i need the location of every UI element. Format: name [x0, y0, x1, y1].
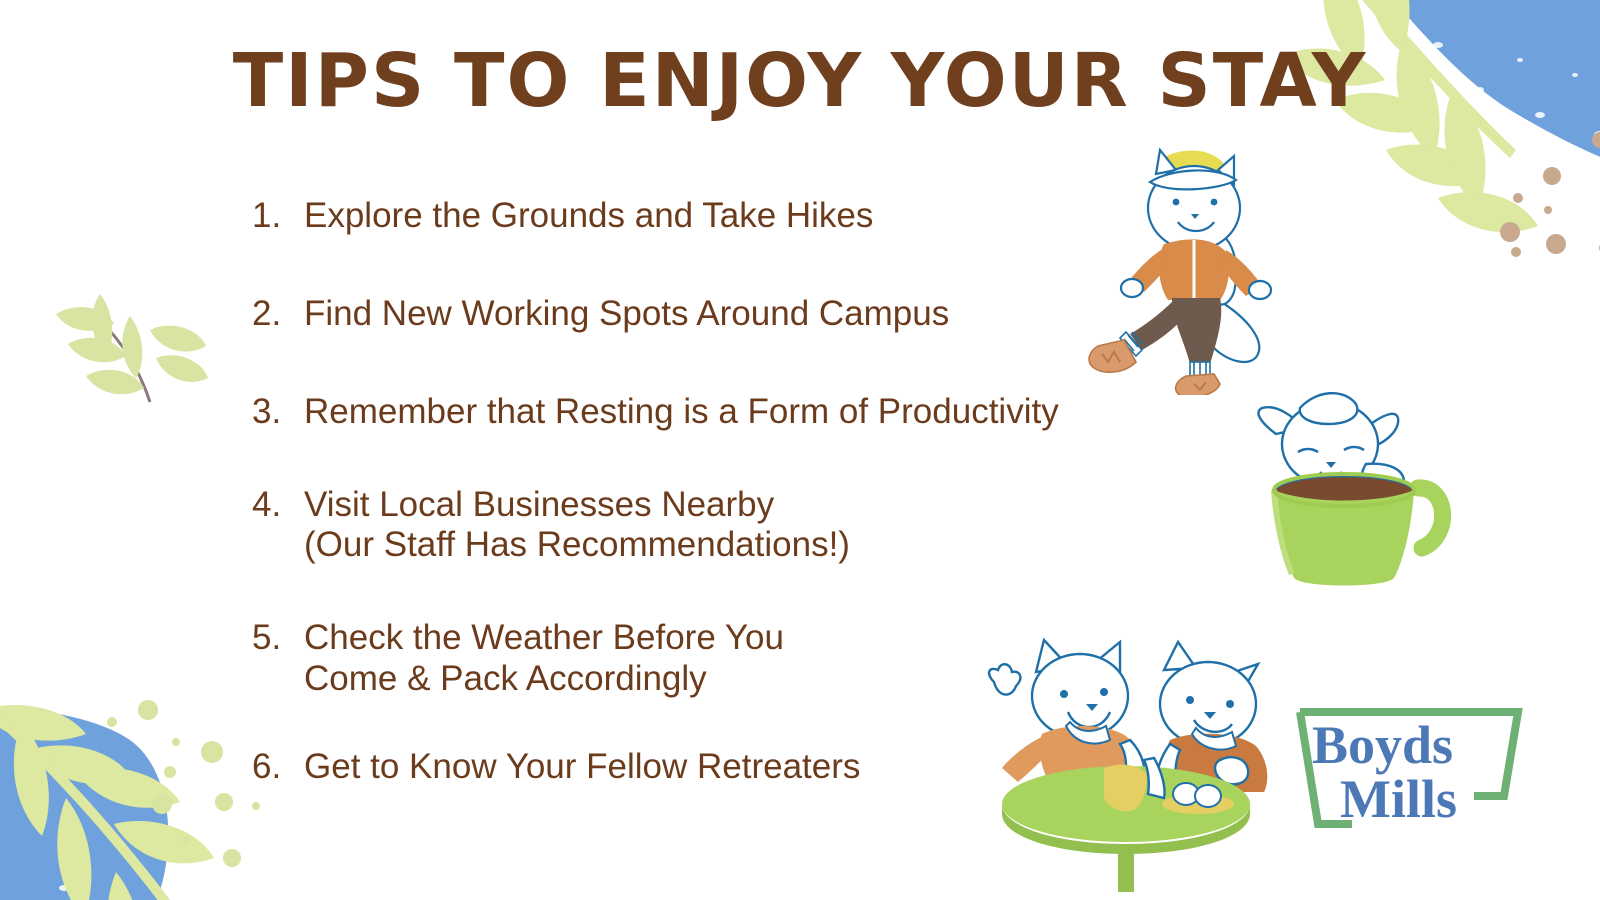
cat-paw-left [1121, 279, 1143, 297]
tip-number-2: 2. [252, 294, 304, 335]
tip-line-4a: Visit Local Businesses Nearby [304, 485, 774, 524]
left-cat-eye-left [1060, 690, 1068, 698]
tip-line-2a: Find New Working Spots Around Campus [304, 294, 949, 333]
tip-text-1: Explore the Grounds and Take Hikes [304, 196, 873, 237]
tip-text-2: Find New Working Spots Around Campus [304, 294, 949, 335]
blue-blob-large [0, 706, 168, 900]
leaf-branch-bottom-left [0, 702, 214, 900]
left-leaf-sprig [42, 272, 232, 417]
tip-line-3a: Remember that Resting is a Form of Produ… [304, 392, 1059, 431]
tan-dots-cluster [1500, 132, 1600, 257]
slide-canvas: TIPS TO ENJOY YOUR STAY 1. Explore the G… [0, 0, 1600, 900]
tip-number-6: 6. [252, 747, 304, 788]
mug-cat-illustration [1232, 372, 1457, 602]
cat-eye-right [1211, 199, 1218, 206]
boot-right [1176, 374, 1220, 395]
left-cat-waving-paw [989, 664, 1020, 694]
tip-item-4: 4. Visit Local Businesses Nearby (Our St… [252, 485, 1212, 566]
tip-item-3: 3. Remember that Resting is a Form of Pr… [252, 392, 1212, 433]
sprig-leaves [56, 294, 208, 394]
tip-line-5a: Check the Weather Before You [304, 618, 784, 657]
tip-line-5b: Come & Pack Accordingly [304, 659, 784, 700]
right-cat-eye-right [1226, 700, 1234, 708]
right-cat-eye-left [1186, 696, 1194, 704]
cat-paw-right [1249, 281, 1271, 299]
brand-logo[interactable]: Boyds Mills [1278, 696, 1534, 844]
tip-number-5: 5. [252, 618, 304, 659]
sprig-stem [100, 320, 150, 402]
logo-word-mills: Mills [1340, 772, 1457, 826]
tip-number-3: 3. [252, 392, 304, 433]
cat-eye-left [1173, 199, 1180, 206]
bottom-left-decoration [0, 600, 280, 900]
mug-handle [1418, 488, 1443, 548]
table-food-right [1195, 785, 1221, 807]
page-title: TIPS TO ENJOY YOUR STAY [0, 38, 1600, 124]
hiking-cat-illustration [1068, 140, 1278, 395]
blue-blob-speckles-bottom [0, 851, 106, 900]
green-dots-cluster [107, 700, 260, 867]
logo-word-boyds: Boyds [1312, 718, 1453, 772]
right-cat-head [1160, 662, 1256, 746]
left-cat-eye-right [1100, 688, 1108, 696]
tip-text-4: Visit Local Businesses Nearby (Our Staff… [304, 485, 850, 566]
mug-cat-beanie [1300, 393, 1358, 424]
table-leg [1118, 848, 1134, 892]
tip-text-6: Get to Know Your Fellow Retreaters [304, 747, 860, 788]
tip-line-4b: (Our Staff Has Recommendations!) [304, 525, 850, 566]
tip-number-4: 4. [252, 485, 304, 526]
tip-line-6a: Get to Know Your Fellow Retreaters [304, 747, 860, 786]
tip-line-1a: Explore the Grounds and Take Hikes [304, 196, 873, 235]
table-cats-illustration [958, 608, 1278, 893]
tip-text-5: Check the Weather Before You Come & Pack… [304, 618, 784, 699]
tip-text-3: Remember that Resting is a Form of Produ… [304, 392, 1059, 433]
tip-number-1: 1. [252, 196, 304, 237]
